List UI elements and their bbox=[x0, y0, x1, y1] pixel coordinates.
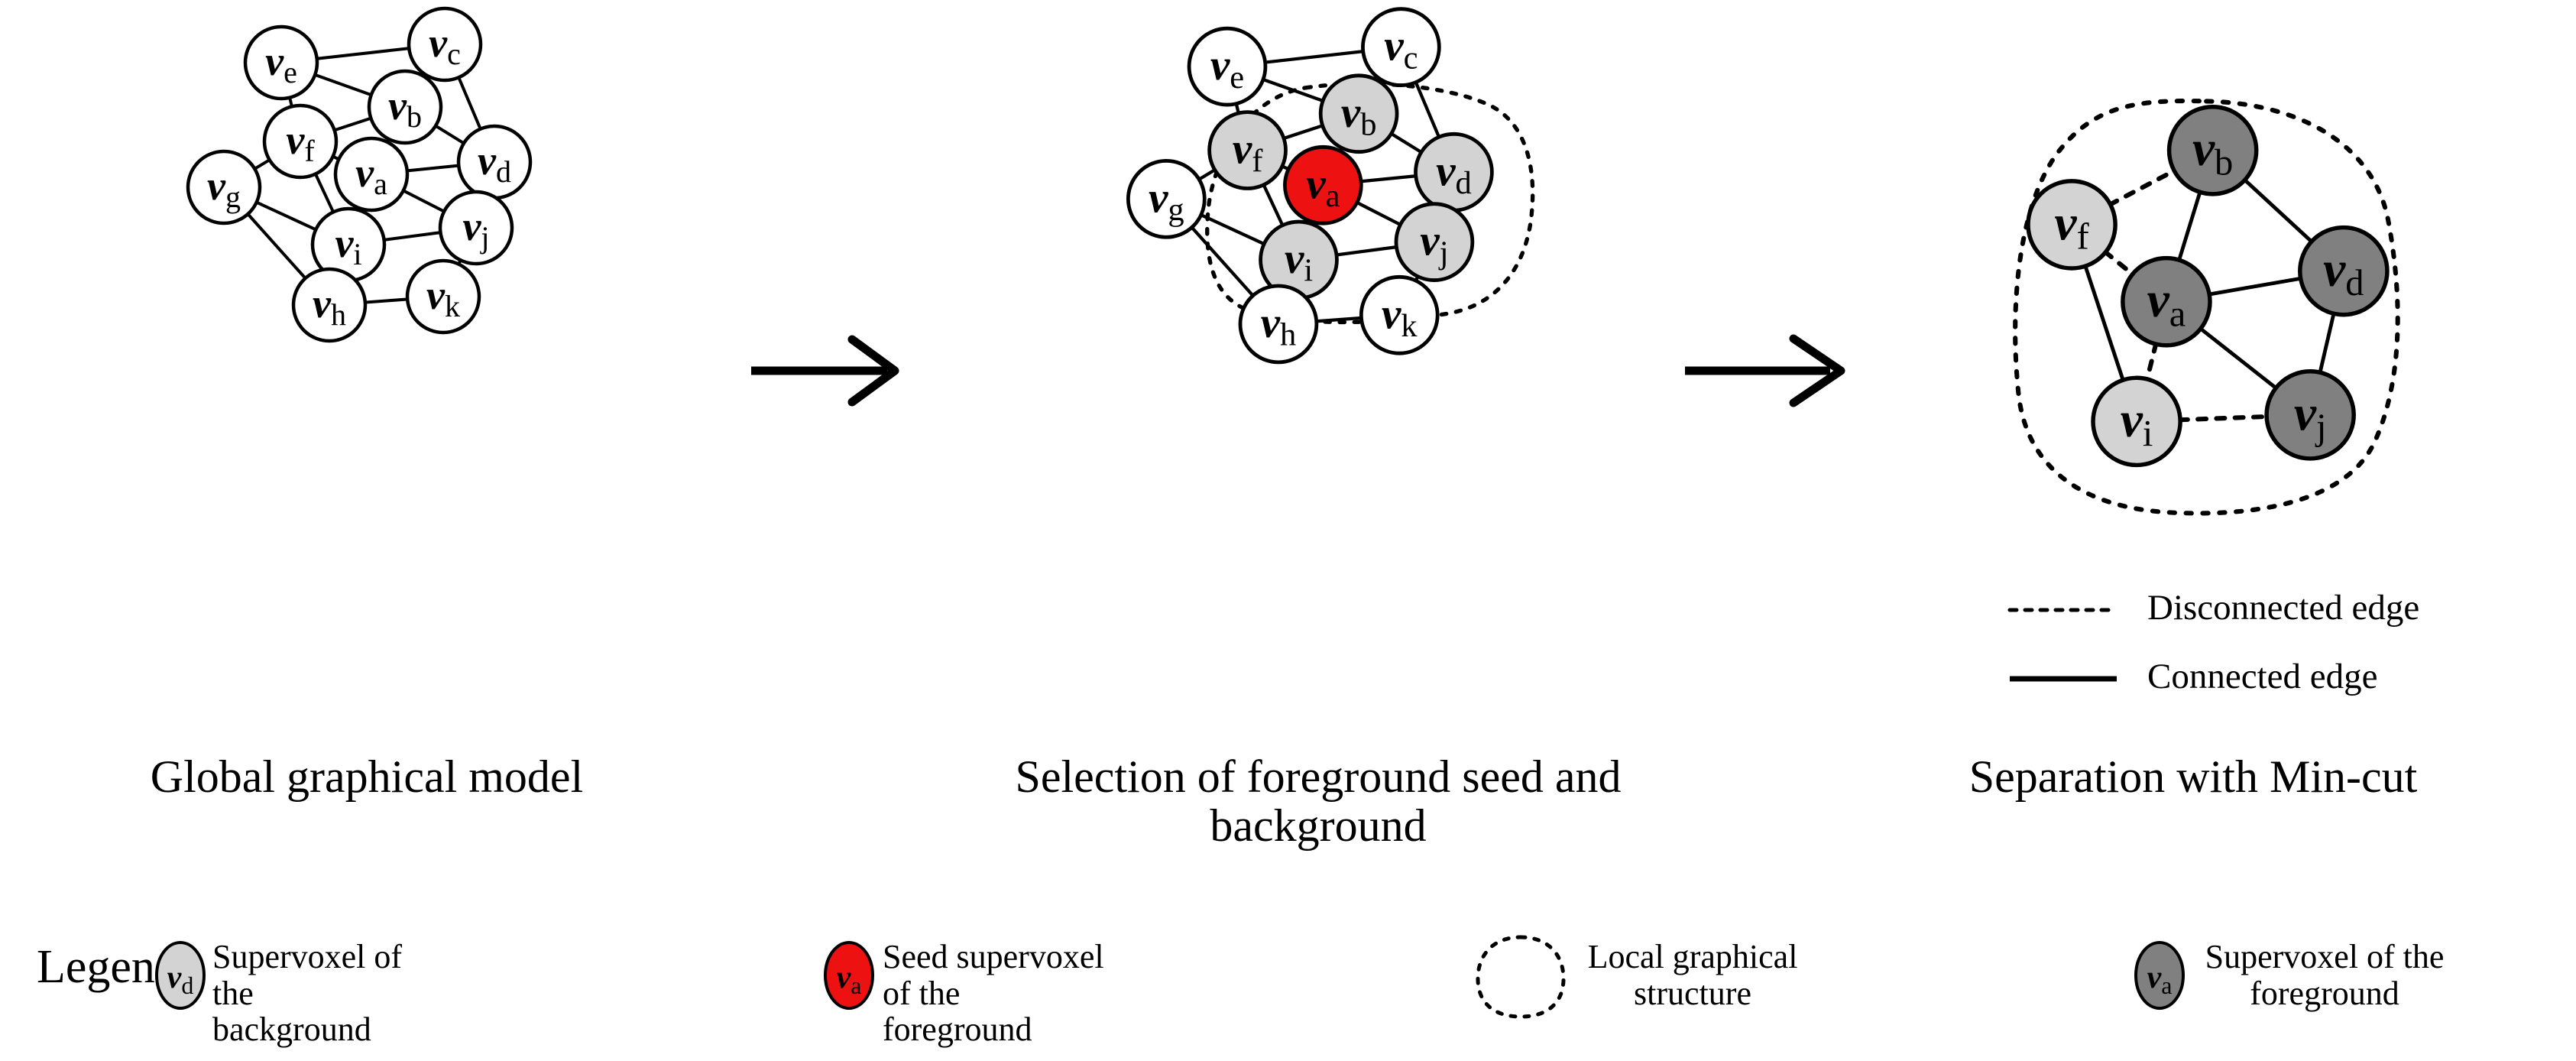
legend-line: Supervoxel of the bbox=[2195, 939, 2454, 975]
panel-separation-with-min-cut: vfvbvdvavjvi bbox=[1876, 34, 2518, 554]
graph-node-vb[interactable]: vb bbox=[369, 71, 441, 143]
legend-line: Seed supervoxel bbox=[883, 939, 1112, 975]
graph-edge-vb-vd bbox=[2244, 180, 2312, 242]
graph-edge-vb-vd bbox=[1391, 133, 1422, 152]
graph-node-vb[interactable]: vb bbox=[1320, 76, 1397, 152]
graph-node-ve[interactable]: ve bbox=[245, 27, 317, 99]
graph-node-vd[interactable]: vd bbox=[1416, 134, 1492, 210]
graph-edge-va-vi bbox=[2147, 343, 2156, 380]
legend-label-supervoxel-foreground: Supervoxel of the foreground bbox=[2195, 939, 2454, 1011]
graph-node-vh[interactable]: vh bbox=[293, 269, 365, 341]
graph-node-va[interactable]: va bbox=[2123, 258, 2210, 346]
legend-line: of the foreground bbox=[883, 975, 1112, 1048]
graph-edge-vh-vk bbox=[365, 299, 408, 302]
graph-node-vd[interactable]: vd bbox=[2300, 228, 2387, 315]
graph-edge-ve-vb bbox=[1262, 79, 1324, 102]
graph-node-vj[interactable]: vj bbox=[2267, 372, 2354, 459]
graph-svg-panel-1: vevcvbvfvdvavgvjvivhvk bbox=[0, 0, 734, 367]
graph-edge-vg-vh bbox=[248, 213, 306, 278]
graph-edge-va-vd bbox=[2208, 278, 2302, 294]
graph-node-vk[interactable]: vk bbox=[1361, 277, 1437, 353]
graph-node-vb[interactable]: vb bbox=[2169, 107, 2257, 194]
graph-node-vk[interactable]: vk bbox=[407, 261, 479, 333]
graph-edge-vg-vi bbox=[1201, 215, 1265, 245]
caption-line: Selection of foreground seed and bbox=[890, 753, 1746, 802]
graph-node-vi[interactable]: vi bbox=[2093, 378, 2180, 465]
legend-swatch-local-graphical-structure bbox=[1471, 931, 1570, 1023]
graph-edge-vg-vh bbox=[1191, 227, 1253, 297]
caption-line: Global graphical model bbox=[0, 753, 734, 802]
graph-edge-vf-vb bbox=[2110, 170, 2176, 205]
arrow-right-icon-1 bbox=[745, 329, 913, 413]
graph-node-vc[interactable]: vc bbox=[1363, 9, 1439, 86]
edge-key-label-disconnected: Disconnected edge bbox=[2147, 587, 2419, 628]
graph-node-va[interactable]: va bbox=[1285, 147, 1361, 223]
caption-line: background bbox=[890, 802, 1746, 851]
legend-label-supervoxel-background: Supervoxel of the background bbox=[212, 939, 411, 1048]
graph-node-vg[interactable]: vg bbox=[1128, 161, 1204, 237]
panel-selection-of-foreground-seed-and-background: vevcvbvfvdvavgvjvivhvk bbox=[928, 0, 1708, 390]
graph-edge-vf-vg bbox=[1198, 170, 1215, 180]
caption-line: Separation with Min-cut bbox=[1849, 753, 2537, 802]
graph-edge-vf-vg bbox=[254, 160, 270, 170]
graph-edge-ve-vc bbox=[1265, 51, 1364, 63]
caption-panel-2: Selection of foreground seed and backgro… bbox=[890, 753, 1746, 850]
graph-node-vf[interactable]: vf bbox=[264, 105, 336, 177]
edge-key-swatches bbox=[2002, 589, 2155, 726]
edge-key-label-connected: Connected edge bbox=[2147, 656, 2377, 697]
graph-node-vd[interactable]: vd bbox=[458, 126, 530, 198]
graph-edge-vb-vf bbox=[1283, 125, 1324, 138]
graph-edge-ve-vb bbox=[314, 75, 371, 96]
graph-node-vg[interactable]: vg bbox=[188, 151, 260, 223]
graph-edge-va-vj bbox=[1356, 202, 1401, 225]
graph-node-vj[interactable]: vj bbox=[1396, 204, 1473, 281]
graph-edge-vf-vi bbox=[2085, 265, 2124, 381]
graph-node-vf[interactable]: vf bbox=[2028, 181, 2115, 268]
graph-edge-va-vd bbox=[407, 166, 459, 171]
graph-edge-vb-vd bbox=[435, 125, 465, 144]
graph-node-va[interactable]: va bbox=[335, 138, 407, 210]
caption-panel-3: Separation with Min-cut bbox=[1849, 753, 2537, 802]
graph-edge-vf-vi bbox=[315, 174, 333, 213]
figure-canvas: vevcvbvfvdvavgvjvivhvk Global graphical … bbox=[0, 0, 2576, 1061]
legend-swatch-supervoxel-background: vd bbox=[153, 940, 208, 1011]
legend-line: Local graphical bbox=[1578, 939, 1807, 975]
graph-node-vc[interactable]: vc bbox=[409, 8, 481, 80]
graph-edge-vb-va bbox=[2179, 191, 2200, 261]
legend-swatch-seed-supervoxel-foreground: va bbox=[821, 940, 876, 1011]
legend-line: Supervoxel of bbox=[212, 939, 411, 975]
graph-edge-vi-vj bbox=[1336, 247, 1398, 255]
graph-node-vh[interactable]: vh bbox=[1240, 286, 1317, 362]
graph-edge-vc-vd bbox=[458, 76, 481, 129]
graph-node-vf[interactable]: vf bbox=[1210, 112, 1286, 189]
legend-label-seed-supervoxel-foreground: Seed supervoxel of the foreground bbox=[883, 939, 1112, 1048]
graph-edge-va-vj bbox=[403, 190, 445, 212]
graph-edge-vb-vf bbox=[334, 118, 372, 130]
graph-svg-panel-3: vfvbvdvavjvi bbox=[1876, 34, 2518, 554]
graph-edge-vi-vj bbox=[384, 232, 442, 240]
legend-line: foreground bbox=[2195, 975, 2454, 1012]
graph-edge-ve-vc bbox=[316, 48, 410, 59]
graph-node-vj[interactable]: vj bbox=[440, 192, 512, 264]
caption-panel-1: Global graphical model bbox=[0, 753, 734, 802]
graph-edge-vd-vj bbox=[2320, 313, 2334, 373]
graph-node-ve[interactable]: ve bbox=[1189, 28, 1265, 105]
arrow-right-icon-2 bbox=[1677, 329, 1861, 413]
graph-edge-vi-vj bbox=[2179, 417, 2267, 420]
graph-edge-va-vd bbox=[1360, 176, 1417, 181]
legend-line: structure bbox=[1578, 975, 1807, 1012]
graph-edge-vg-vi bbox=[256, 202, 316, 230]
graph-edge-va-vj bbox=[2200, 328, 2276, 388]
graph-edge-vf-va bbox=[2105, 251, 2133, 274]
legend-swatch-supervoxel-foreground: va bbox=[2132, 940, 2187, 1011]
legend-label-local-graphical-structure: Local graphical structure bbox=[1578, 939, 1807, 1011]
panel-global-graphical-model: vevcvbvfvdvavgvjvivhvk bbox=[0, 0, 734, 367]
graph-svg-panel-2: vevcvbvfvdvavgvjvivhvk bbox=[928, 0, 1708, 390]
graph-edge-vf-vi bbox=[1263, 184, 1283, 226]
legend-line: the background bbox=[212, 975, 411, 1048]
